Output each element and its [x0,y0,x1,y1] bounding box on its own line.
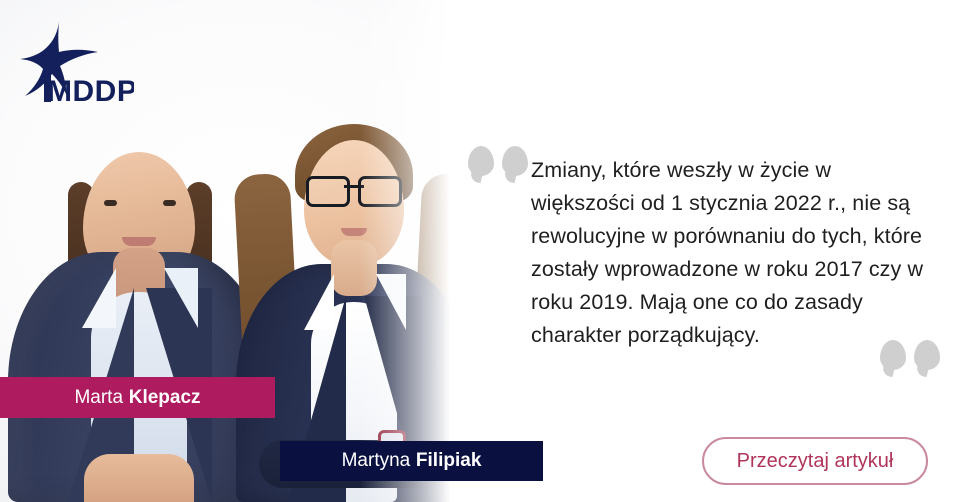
nameplate-martyna-filipiak: Martyna Filipiak [280,441,543,481]
nameplate-family-name: Klepacz [129,387,201,409]
mddp-logo-text: MDDP [47,75,134,104]
mouth [122,237,156,246]
promo-banner: MDDP [0,0,960,502]
photo-edge-fade [360,0,470,502]
hands [84,454,194,502]
mddp-bird-star-icon: MDDP [14,16,134,104]
nameplate-family-name: Filipiak [416,450,481,472]
collar-right [164,268,198,328]
quote-close-glyph-2 [914,340,940,370]
lens-left [306,176,350,207]
eye-left [104,200,117,206]
mddp-logo[interactable]: MDDP [14,16,134,104]
read-article-button[interactable]: Przeczytaj artykuł [702,437,928,485]
quote-close-glyph-1 [880,340,906,370]
nameplate-given-name: Marta [74,387,123,409]
nameplate-marta-klepacz: Marta Klepacz [0,377,275,418]
collar-left [304,274,334,330]
quote-text: Zmiany, które weszły w życie w większośc… [531,154,931,352]
nameplate-given-name: Martyna [342,450,411,472]
collar-left [82,268,116,328]
quote-open-glyph-1 [468,146,494,176]
eye-right [163,200,176,206]
quote-open-glyph-2 [502,146,528,176]
quote-close-icon [880,340,940,370]
quote-open-icon [468,146,528,176]
